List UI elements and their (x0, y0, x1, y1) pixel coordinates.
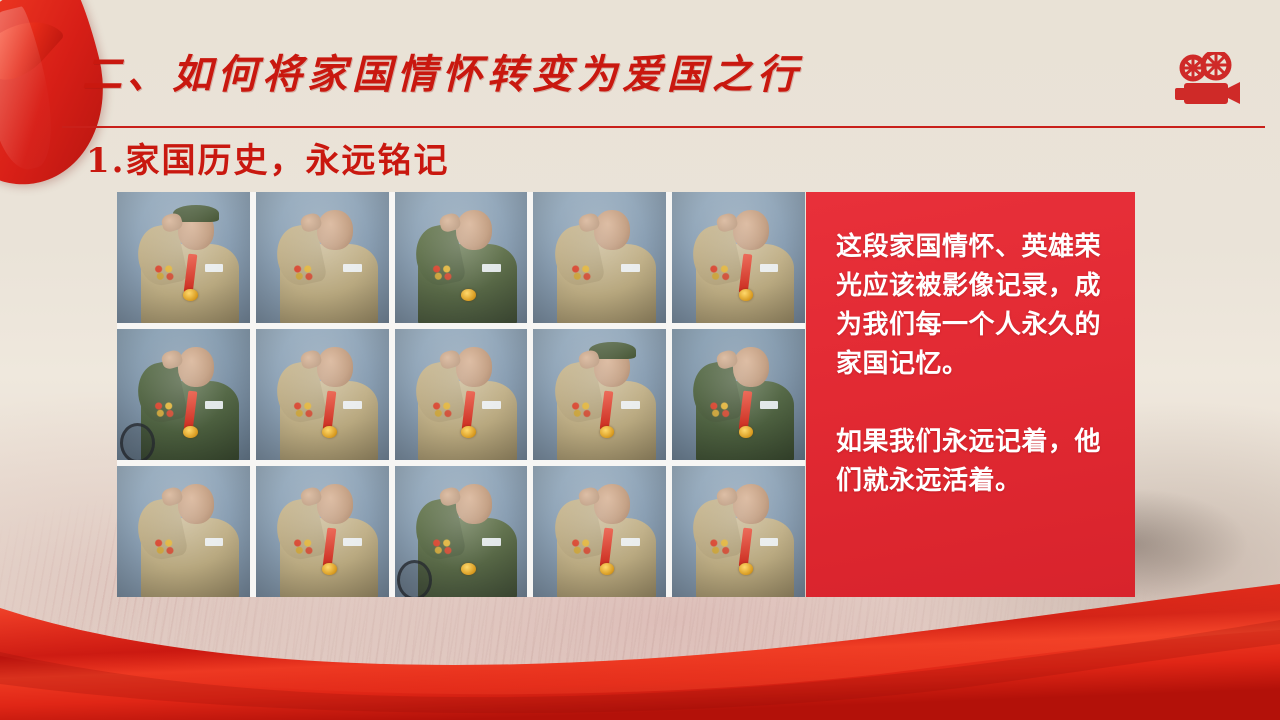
photo-cell (533, 192, 666, 323)
photo-vignette (117, 192, 250, 323)
red-drape-decoration (0, 560, 1280, 720)
photo-cell (395, 192, 528, 323)
photo-vignette (395, 192, 528, 323)
photo-vignette (533, 329, 666, 460)
page-title: 二、如何将家国情怀转变为爱国之行 (82, 42, 802, 100)
photo-cell (395, 329, 528, 460)
photo-cell (117, 329, 250, 460)
slide-canvas: 二、如何将家国情怀转变为爱国之行 1.家国历史，永远铭记 这段家国情怀、英雄荣光… (0, 0, 1280, 720)
photo-vignette (117, 329, 250, 460)
photo-cell (533, 329, 666, 460)
veteran-photo-grid (117, 192, 805, 597)
quote-paragraph-1: 这段家国情怀、英雄荣光应该被影像记录，成为我们每一个人永久的家国记忆。 (836, 228, 1109, 384)
photo-cell (256, 329, 389, 460)
photo-vignette (533, 192, 666, 323)
photo-vignette (256, 192, 389, 323)
photo-vignette (672, 192, 805, 323)
photo-cell (117, 192, 250, 323)
photo-cell (672, 192, 805, 323)
title-divider-rule (62, 126, 1265, 128)
quote-panel: 这段家国情怀、英雄荣光应该被影像记录，成为我们每一个人永久的家国记忆。 如果我们… (806, 192, 1135, 597)
quote-paragraph-2: 如果我们永远记着，他们就永远活着。 (836, 423, 1109, 501)
photo-cell (672, 329, 805, 460)
photo-vignette (672, 329, 805, 460)
photo-vignette (395, 329, 528, 460)
red-ribbon-tail (0, 0, 65, 93)
section-subtitle: 1.家国历史，永远铭记 (86, 133, 450, 182)
photo-cell (256, 192, 389, 323)
movie-projector-icon (1170, 52, 1242, 108)
photo-vignette (256, 329, 389, 460)
